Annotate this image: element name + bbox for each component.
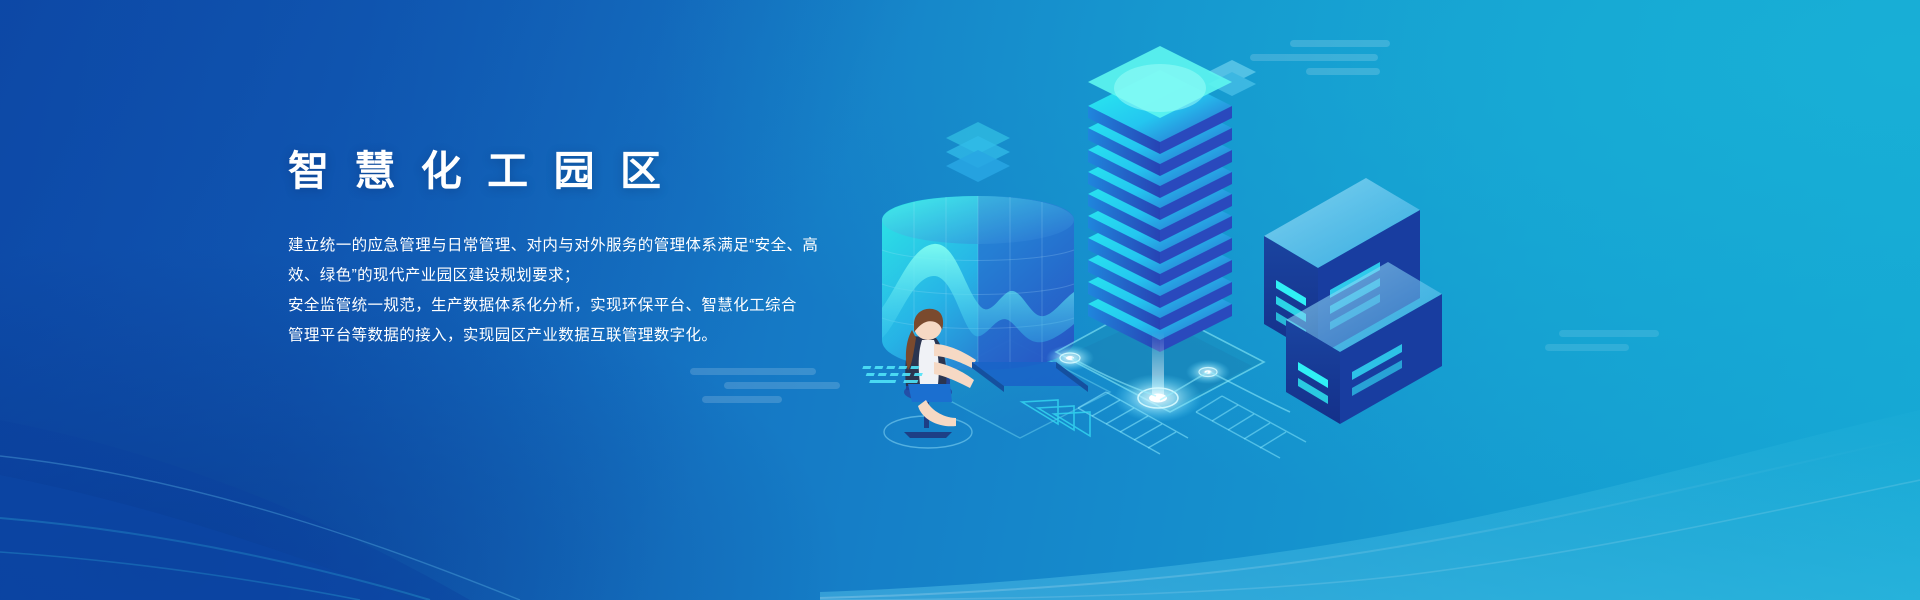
server-stack-tower xyxy=(1088,46,1232,352)
description-line-2: 效、绿色”的现代产业园区建设规划要求； xyxy=(288,261,888,291)
cloud-motif-bottom-left xyxy=(690,368,840,402)
page-title: 智 慧 化 工 园 区 xyxy=(288,147,888,195)
cloud-motif-right-low xyxy=(1545,330,1665,352)
hero-content: 智 慧 化 工 园 区 建立统一的应急管理与日常管理、对内与对外服务的管理体系满… xyxy=(288,147,888,351)
hero-banner: 智 慧 化 工 园 区 建立统一的应急管理与日常管理、对内与对外服务的管理体系满… xyxy=(0,0,1920,600)
step-grid-right-icon xyxy=(1196,396,1306,458)
isometric-illustration xyxy=(860,40,1420,460)
hero-description: 建立统一的应急管理与日常管理、对内与对外服务的管理体系满足“安全、高 效、绿色”… xyxy=(288,231,888,351)
floating-layer-chip-icon xyxy=(946,122,1010,182)
description-line-1: 建立统一的应急管理与日常管理、对内与对外服务的管理体系满足“安全、高 xyxy=(288,231,888,261)
description-line-4: 管理平台等数据的接入，实现园区产业数据互联管理数字化。 xyxy=(288,321,888,351)
description-line-3: 安全监管统一规范，生产数据体系化分析，实现环保平台、智慧化工综合 xyxy=(288,291,888,321)
